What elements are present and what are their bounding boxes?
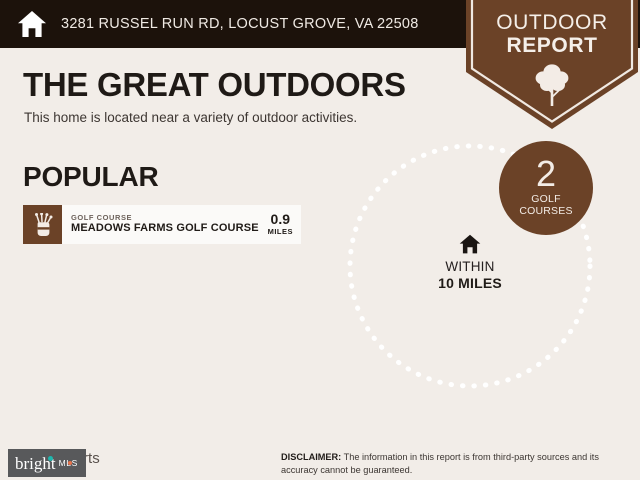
brightmls-logo: bright MLS <box>8 449 86 477</box>
golf-courses-count-bubble: 2 GOLF COURSES <box>499 141 593 235</box>
popular-list: GOLF COURSE MEADOWS FARMS GOLF COURSE 0.… <box>23 205 301 244</box>
home-icon <box>459 234 481 254</box>
header-address: 3281 RUSSEL RUN RD, LOCUST GROVE, VA 225… <box>61 16 419 32</box>
disclaimer-label: DISCLAIMER: <box>281 452 341 462</box>
count-bubble-label-line-1: GOLF <box>531 193 560 205</box>
popular-heading: POPULAR <box>23 161 159 193</box>
count-bubble-number: 2 <box>536 157 556 190</box>
radius-center-label: WITHIN 10 MILES <box>336 234 604 291</box>
golf-bag-icon <box>23 205 62 244</box>
brightmls-dot-icon <box>48 456 53 461</box>
outdoor-report-badge: OUTDOOR REPORT <box>466 0 638 130</box>
shield-shape <box>466 0 638 130</box>
radius-label-line-2: 10 MILES <box>336 275 604 292</box>
page-subtitle: This home is located near a variety of o… <box>24 110 357 125</box>
poi-text: GOLF COURSE MEADOWS FARMS GOLF COURSE <box>62 205 264 244</box>
home-icon <box>17 10 47 38</box>
page-title: THE GREAT OUTDOORS <box>23 66 406 104</box>
count-bubble-label-line-2: COURSES <box>519 205 572 217</box>
poi-distance-value: 0.9 <box>271 212 290 227</box>
poi-category: GOLF COURSE <box>71 213 264 222</box>
poi-distance-unit: MILES <box>268 227 293 237</box>
disclaimer: DISCLAIMER: The information in this repo… <box>281 451 631 478</box>
list-item[interactable]: GOLF COURSE MEADOWS FARMS GOLF COURSE 0.… <box>23 205 301 244</box>
brightmls-wordmark: bright <box>15 455 56 472</box>
poi-name: MEADOWS FARMS GOLF COURSE <box>71 222 264 236</box>
brightmls-accent-icon <box>68 461 72 465</box>
poi-distance: 0.9 MILES <box>264 205 301 244</box>
count-bubble-label: GOLF COURSES <box>519 194 572 218</box>
radius-label-line-1: WITHIN <box>336 259 604 275</box>
